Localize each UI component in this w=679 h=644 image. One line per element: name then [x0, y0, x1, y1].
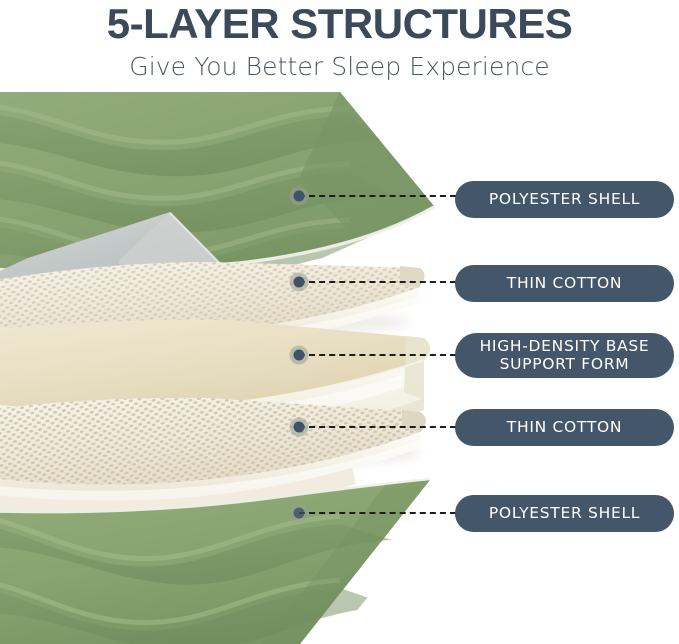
header: 5-LAYER STRUCTURES Give You Better Sleep…	[0, 0, 679, 82]
label-pill-polyester-shell-bottom[interactable]: POLYESTER SHELL	[455, 495, 674, 532]
label-pill-polyester-shell-top[interactable]: POLYESTER SHELL	[455, 181, 674, 218]
page-title: 5-LAYER STRUCTURES	[0, 0, 679, 46]
label-text-line1: HIGH-DENSITY BASE	[480, 338, 650, 355]
label-pill-thin-cotton-lower[interactable]: THIN COTTON	[455, 409, 674, 446]
label-text: THIN COTTON	[507, 419, 622, 436]
label-text-line2: SUPPORT FORM	[480, 356, 650, 373]
label-pill-thin-cotton-upper[interactable]: THIN COTTON	[455, 265, 674, 302]
layer-labels-group: POLYESTER SHELL THIN COTTON HIGH-DENSITY…	[0, 0, 679, 644]
label-text: POLYESTER SHELL	[489, 191, 640, 208]
label-text: THIN COTTON	[507, 275, 622, 292]
label-text-block: HIGH-DENSITY BASE SUPPORT FORM	[480, 338, 650, 373]
infographic-page: POLYESTER SHELL THIN COTTON HIGH-DENSITY…	[0, 0, 679, 644]
page-subtitle: Give You Better Sleep Experience	[0, 46, 679, 82]
label-text: POLYESTER SHELL	[489, 505, 640, 522]
label-pill-foam-core[interactable]: HIGH-DENSITY BASE SUPPORT FORM	[455, 333, 674, 378]
